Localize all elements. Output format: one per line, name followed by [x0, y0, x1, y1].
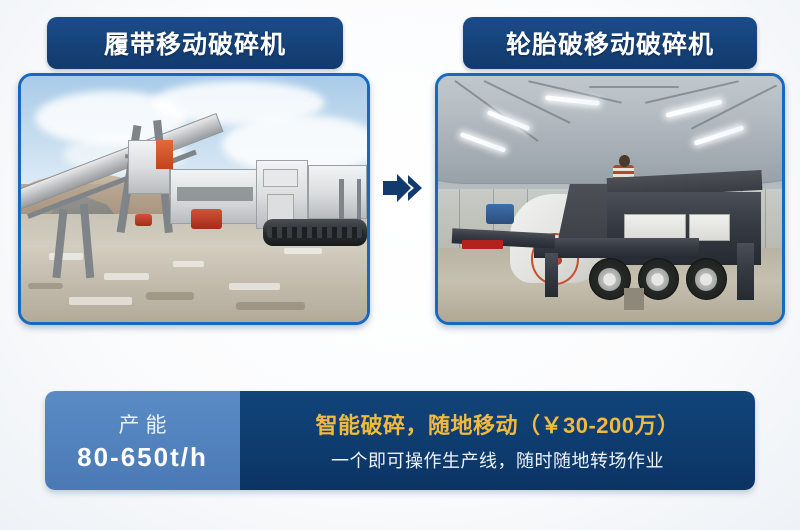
wheel-rim — [695, 268, 718, 291]
capacity-value: 80-650t/h — [77, 442, 208, 473]
ground-texture — [284, 248, 322, 254]
photo-crawler-crusher — [21, 76, 367, 322]
ground-texture — [69, 297, 131, 304]
motor-unit — [135, 214, 152, 226]
photo-card-crawler-crusher — [18, 73, 370, 325]
title-banner-left-text: 履带移动破碎机 — [104, 25, 286, 61]
chassis-beam — [534, 238, 699, 258]
ground-texture — [28, 283, 63, 289]
capacity-label: 产能 — [113, 409, 173, 439]
motor-unit — [191, 209, 222, 229]
brand-label — [462, 240, 503, 250]
description-headline: 智能破碎，随地移动（￥30-200万） — [315, 408, 679, 440]
wall-rib — [765, 189, 766, 253]
title-banner-right: 轮胎破移动破碎机 — [463, 17, 757, 69]
roof-purlin — [589, 86, 678, 88]
crusher-internal-shaft — [177, 187, 253, 202]
title-banner-left: 履带移动破碎机 — [47, 17, 343, 69]
cabin-door — [267, 194, 295, 221]
orange-accent-panel — [156, 140, 173, 170]
description-subtext: 一个即可操作生产线，随时随地转场作业 — [331, 447, 664, 473]
ground-texture — [104, 273, 149, 280]
description-block: 智能破碎，随地移动（￥30-200万） 一个即可操作生产线，随时随地转场作业 — [240, 391, 755, 490]
cabin-window — [263, 169, 298, 186]
side-panel — [689, 214, 730, 241]
double-chevron-right-icon — [381, 172, 425, 204]
spec-info-bar: 产能 80-650t/h 智能破碎，随地移动（￥30-200万） 一个即可操作生… — [45, 391, 755, 490]
ground-texture — [236, 302, 305, 309]
ground-block — [624, 288, 645, 310]
side-panel — [624, 214, 686, 241]
title-banner-right-text: 轮胎破移动破碎机 — [506, 25, 714, 61]
ground-texture — [229, 283, 281, 290]
wheel-rim — [646, 268, 669, 291]
capacity-block: 产能 80-650t/h — [45, 391, 240, 490]
wheel-rim — [598, 268, 621, 291]
access-ladder — [339, 179, 344, 223]
ground-texture — [173, 261, 204, 267]
crawler-track — [263, 219, 367, 246]
track-tread — [267, 227, 363, 238]
support-jack — [737, 243, 754, 300]
photo-tire-crusher-workshop — [438, 76, 782, 322]
photo-card-tire-crusher — [435, 73, 785, 325]
ground-texture — [146, 292, 194, 299]
blue-motor — [486, 204, 514, 224]
promo-banner-stage: 履带移动破碎机 轮胎破移动破碎机 — [0, 0, 800, 530]
wall-rib — [459, 189, 460, 253]
worker-head — [619, 155, 630, 167]
support-jack — [545, 253, 559, 297]
access-ladder — [357, 179, 362, 223]
